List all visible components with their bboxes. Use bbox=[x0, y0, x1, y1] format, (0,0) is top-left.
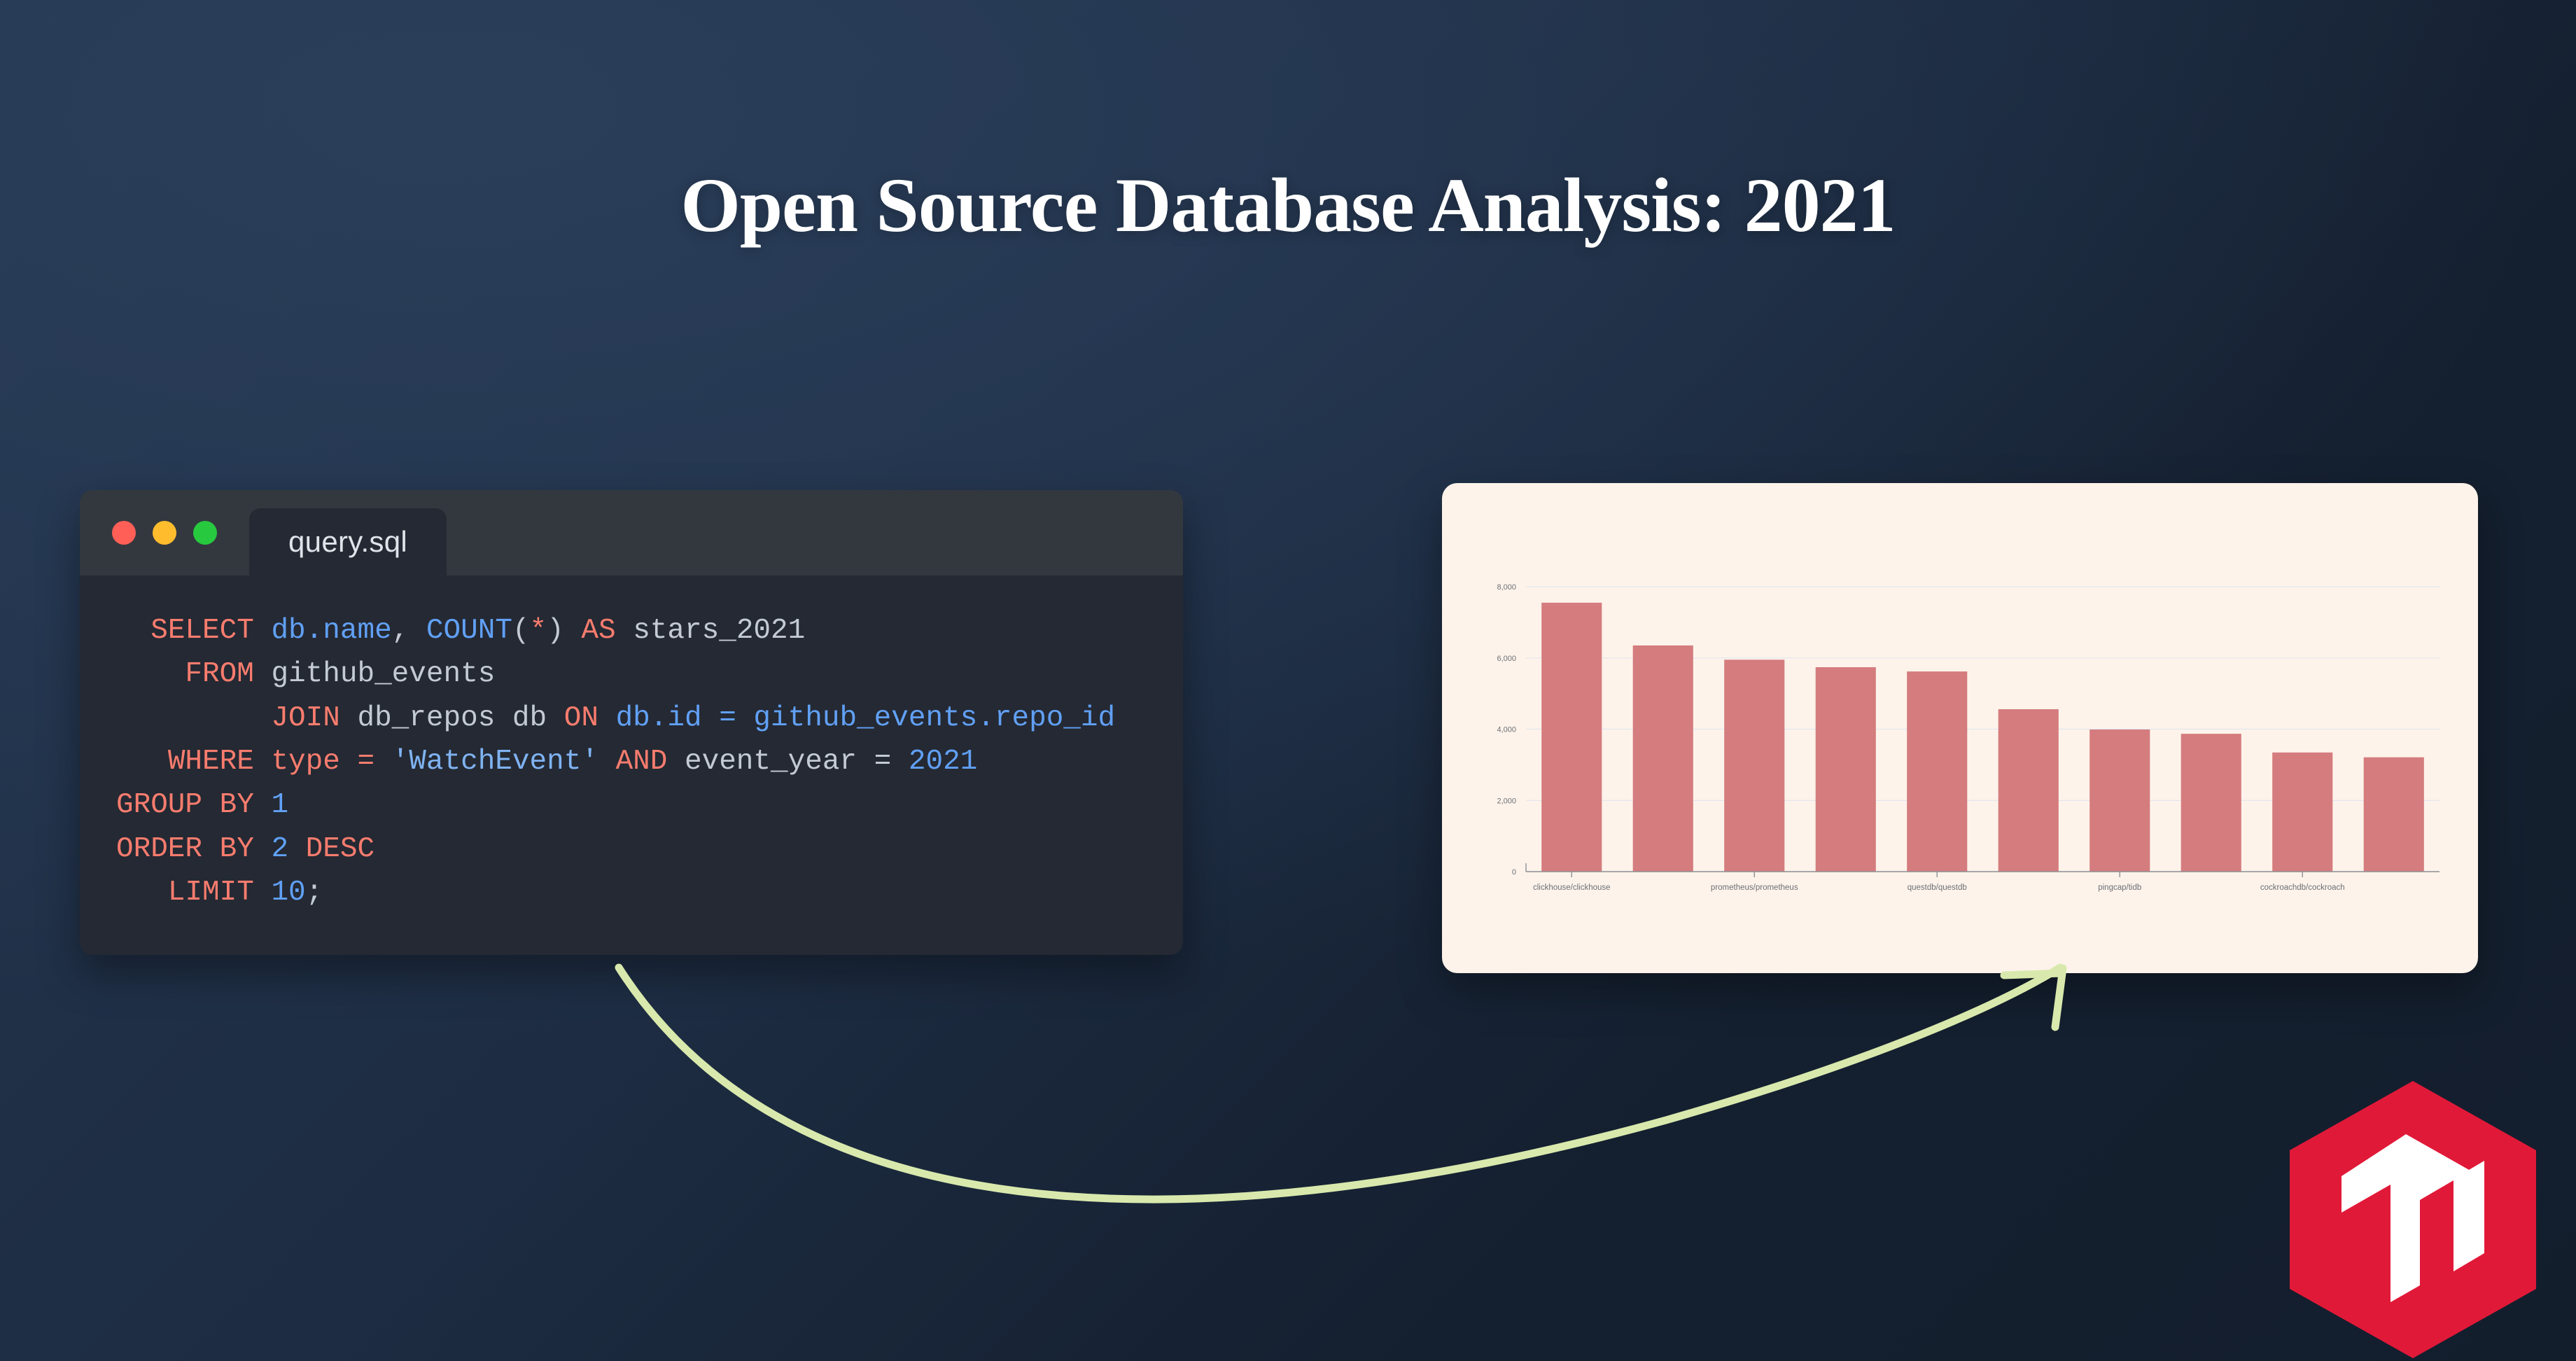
traffic-light-group bbox=[80, 490, 249, 575]
chart-x-labels: clickhouse/clickhouseprometheus/promethe… bbox=[1533, 884, 2345, 892]
chart-bar[interactable] bbox=[1541, 603, 1602, 872]
chart-bar[interactable] bbox=[1633, 645, 1693, 872]
maximize-icon[interactable] bbox=[193, 521, 217, 545]
sql-code-editor[interactable]: SELECT db.name, COUNT(*) AS stars_2021 F… bbox=[80, 575, 1183, 955]
arrow-curve bbox=[619, 968, 2060, 1199]
close-icon[interactable] bbox=[112, 521, 136, 545]
page-title: Open Source Database Analysis: 2021 bbox=[0, 161, 2576, 250]
code-line: SELECT db.name, COUNT(*) AS stars_2021 bbox=[116, 615, 805, 647]
chart-bar[interactable] bbox=[2272, 753, 2332, 872]
chart-bar[interactable] bbox=[1907, 671, 1967, 872]
chart-bar[interactable] bbox=[1816, 667, 1876, 872]
chart-bar[interactable] bbox=[2364, 758, 2424, 872]
bar-chart-svg: 02,0004,0006,0008,000 clickhouse/clickho… bbox=[1442, 483, 2478, 973]
bar-chart: 02,0004,0006,0008,000 clickhouse/clickho… bbox=[1442, 483, 2478, 973]
x-axis-tick: pingcap/tidb bbox=[2098, 884, 2141, 892]
y-axis-tick: 0 bbox=[1512, 868, 1516, 877]
tidb-logo bbox=[2287, 1078, 2539, 1361]
x-axis-tick: cockroachdb/cockroach bbox=[2260, 884, 2345, 892]
code-line: GROUP BY 1 bbox=[116, 789, 288, 821]
code-line: LIMIT 10; bbox=[116, 877, 323, 909]
code-line: FROM github_events bbox=[116, 658, 495, 690]
tidb-logo-svg bbox=[2287, 1078, 2539, 1361]
chart-y-labels: 02,0004,0006,0008,000 bbox=[1497, 583, 1516, 877]
y-axis-tick: 4,000 bbox=[1497, 726, 1516, 734]
x-axis-tick: questdb/questdb bbox=[1907, 884, 1967, 892]
arrow-head-icon bbox=[2004, 968, 2063, 1027]
chart-bar[interactable] bbox=[2089, 730, 2150, 872]
chart-bars[interactable] bbox=[1541, 603, 2424, 872]
minimize-icon[interactable] bbox=[153, 521, 176, 545]
chart-bar[interactable] bbox=[2181, 734, 2241, 872]
x-axis-tick: prometheus/prometheus bbox=[1711, 884, 1798, 892]
y-axis-tick: 8,000 bbox=[1497, 583, 1516, 592]
chart-bar[interactable] bbox=[1724, 659, 1784, 872]
chart-card: 02,0004,0006,0008,000 clickhouse/clickho… bbox=[1442, 483, 2478, 973]
logo-letter-i bbox=[2453, 1161, 2484, 1271]
code-line: ORDER BY 2 DESC bbox=[116, 833, 374, 865]
code-line: JOIN db_repos db ON db.id = github_event… bbox=[116, 702, 1115, 734]
x-axis-tick: clickhouse/clickhouse bbox=[1533, 884, 1611, 892]
y-axis-tick: 2,000 bbox=[1497, 797, 1516, 805]
tab-query-sql[interactable]: query.sql bbox=[249, 508, 447, 575]
code-window: query.sql SELECT db.name, COUNT(*) AS st… bbox=[80, 490, 1183, 955]
code-line: WHERE type = 'WatchEvent' AND event_year… bbox=[116, 746, 977, 778]
chart-bar[interactable] bbox=[1998, 709, 2059, 872]
code-window-titlebar: query.sql bbox=[80, 490, 1183, 575]
y-axis-tick: 6,000 bbox=[1497, 655, 1516, 663]
